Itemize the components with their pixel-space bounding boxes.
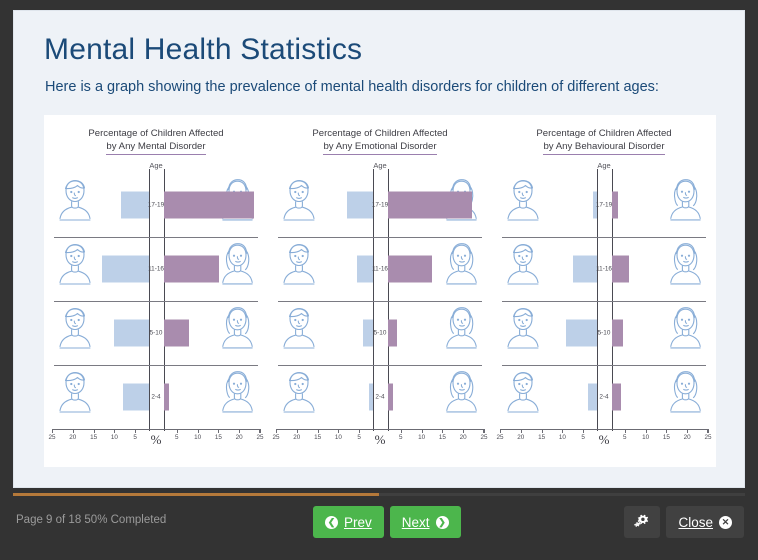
axis-tick-label: 20	[517, 434, 524, 441]
axis-tick	[583, 429, 584, 433]
row-age-label: 17-19	[372, 202, 388, 209]
chart-row: 17-19	[52, 173, 260, 237]
chevron-left-circle-icon: ❮	[325, 516, 338, 529]
axis-tick-label: 5	[399, 434, 403, 441]
axis-tick-label: 5	[133, 434, 137, 441]
x-axis: 252015105510152025%	[276, 429, 484, 451]
boy-figure-icon	[501, 177, 545, 234]
bar-male	[573, 256, 596, 283]
settings-button[interactable]	[624, 506, 660, 538]
row-age-label: 17-19	[596, 202, 612, 209]
progress-track	[13, 493, 745, 496]
row-age-label: 17-19	[148, 202, 164, 209]
axis-tick	[500, 429, 501, 433]
chart-row: 2-4	[52, 365, 260, 429]
axis-tick-label: 15	[90, 434, 97, 441]
bar-male	[121, 192, 148, 219]
axis-tick-label: 15	[215, 434, 222, 441]
x-axis: 252015105510152025%	[500, 429, 708, 451]
row-age-label: 2-4	[375, 394, 384, 401]
boy-figure-icon	[277, 369, 321, 426]
page-status: Page 9 of 18 50% Completed	[16, 514, 166, 526]
close-circle-icon: ✕	[719, 516, 732, 529]
axis-tick-label: 10	[194, 434, 201, 441]
chart-title-line2: by Any Emotional Disorder	[323, 140, 436, 155]
boy-figure-icon	[501, 369, 545, 426]
girl-figure-icon	[215, 241, 259, 298]
chart-row: 5-10	[500, 301, 708, 365]
row-age-label: 2-4	[151, 394, 160, 401]
axis-tick	[338, 429, 339, 433]
chart-rows: 17-19 11-16 5-10 2-4	[500, 173, 708, 429]
girl-figure-icon	[663, 177, 707, 234]
boy-figure-icon	[53, 369, 97, 426]
axis-tick-label: 15	[314, 434, 321, 441]
page-subtitle: Here is a graph showing the prevalence o…	[45, 79, 659, 95]
plot-area: Age 17-19 11-16 5-10 2-4	[276, 173, 484, 429]
axis-tick	[198, 429, 199, 433]
next-button-label: Next	[402, 515, 430, 530]
axis-line	[500, 429, 708, 430]
chart-row: 2-4	[500, 365, 708, 429]
girl-figure-icon	[663, 305, 707, 362]
chart-panel-3: Percentage of Children Affectedby Any Be…	[492, 115, 716, 467]
percent-axis-label: %	[599, 432, 610, 448]
girl-figure-icon	[663, 241, 707, 298]
axis-tick-label: 15	[663, 434, 670, 441]
chart-title-line2: by Any Behavioural Disorder	[543, 140, 664, 155]
axis-tick-label: 5	[623, 434, 627, 441]
chart-title-line1: Percentage of Children Affected	[268, 127, 492, 140]
row-age-label: 2-4	[599, 394, 608, 401]
axis-tick	[463, 429, 464, 433]
row-age-label: 11-16	[372, 266, 388, 273]
axis-tick	[442, 429, 443, 433]
slide-panel: Mental Health Statistics Here is a graph…	[13, 10, 745, 488]
axis-tick-label: 25	[272, 434, 279, 441]
axis-tick	[359, 429, 360, 433]
bar-female	[164, 192, 255, 219]
bar-male	[566, 320, 597, 347]
bar-female	[388, 320, 398, 347]
bar-male	[123, 384, 148, 411]
close-button-label: Close	[678, 515, 713, 530]
axis-tick	[177, 429, 178, 433]
bar-male	[114, 320, 149, 347]
axis-tick	[422, 429, 423, 433]
girl-figure-icon	[215, 369, 259, 426]
chart-rows: 17-19 11-16 5-10 2-4	[276, 173, 484, 429]
plot-area: Age 17-19 11-16 5-10 2-4	[52, 173, 260, 429]
bar-female	[388, 384, 393, 411]
axis-tick	[542, 429, 543, 433]
page-title: Mental Health Statistics	[44, 33, 362, 67]
chart-panel-2: Percentage of Children Affectedby Any Em…	[268, 115, 492, 467]
axis-tick	[94, 429, 95, 433]
axis-tick	[646, 429, 647, 433]
axis-tick	[260, 429, 261, 433]
row-age-label: 5-10	[150, 330, 163, 337]
bar-female	[612, 256, 629, 283]
axis-tick-label: 5	[357, 434, 361, 441]
axis-tick-label: 20	[69, 434, 76, 441]
bar-male	[347, 192, 372, 219]
axis-tick-label: 15	[538, 434, 545, 441]
axis-tick	[562, 429, 563, 433]
bar-female	[164, 256, 220, 283]
boy-figure-icon	[53, 305, 97, 362]
chart-title-line2: by Any Mental Disorder	[106, 140, 205, 155]
chart-title: Percentage of Children Affectedby Any Be…	[492, 127, 716, 155]
chart-title: Percentage of Children Affectedby Any Em…	[268, 127, 492, 155]
chart-panel-1: Percentage of Children Affectedby Any Me…	[44, 115, 268, 467]
girl-figure-icon	[439, 305, 483, 362]
axis-tick-label: 10	[642, 434, 649, 441]
chart-row: 17-19	[276, 173, 484, 237]
axis-tick-label: 20	[460, 434, 467, 441]
boy-figure-icon	[501, 241, 545, 298]
axis-tick-label: 25	[256, 434, 263, 441]
boy-figure-icon	[501, 305, 545, 362]
chart-row: 11-16	[500, 237, 708, 301]
prev-button[interactable]: ❮ Prev	[313, 506, 384, 538]
chart-row: 11-16	[52, 237, 260, 301]
girl-figure-icon	[439, 241, 483, 298]
axis-tick	[52, 429, 53, 433]
axis-tick	[401, 429, 402, 433]
axis-tick	[239, 429, 240, 433]
axis-tick-label: 25	[496, 434, 503, 441]
axis-tick	[318, 429, 319, 433]
next-button[interactable]: Next ❯	[390, 506, 461, 538]
bar-male	[369, 384, 372, 411]
axis-tick	[297, 429, 298, 433]
bar-female	[388, 192, 473, 219]
axis-tick-label: 10	[418, 434, 425, 441]
chevron-right-circle-icon: ❯	[436, 516, 449, 529]
age-axis-label: Age	[149, 161, 162, 170]
axis-tick	[135, 429, 136, 433]
axis-tick	[666, 429, 667, 433]
bar-female	[164, 384, 170, 411]
girl-figure-icon	[215, 305, 259, 362]
axis-tick	[218, 429, 219, 433]
plot-area: Age 17-19 11-16 5-10 2-4	[500, 173, 708, 429]
girl-figure-icon	[663, 369, 707, 426]
bar-male	[102, 256, 148, 283]
navigation-buttons: ❮ Prev Next ❯	[313, 506, 461, 538]
axis-tick-label: 20	[293, 434, 300, 441]
chart-row: 11-16	[276, 237, 484, 301]
axis-tick	[73, 429, 74, 433]
row-age-label: 5-10	[374, 330, 387, 337]
bar-male	[588, 384, 596, 411]
axis-tick-label: 25	[48, 434, 55, 441]
axis-tick	[687, 429, 688, 433]
axis-tick-label: 5	[581, 434, 585, 441]
prev-button-label: Prev	[344, 515, 372, 530]
axis-tick	[114, 429, 115, 433]
chart-title-line1: Percentage of Children Affected	[44, 127, 268, 140]
chart-row: 5-10	[52, 301, 260, 365]
chart-row: 17-19	[500, 173, 708, 237]
age-axis-label: Age	[597, 161, 610, 170]
bottom-toolbar: Page 9 of 18 50% Completed ❮ Prev Next ❯	[0, 500, 758, 560]
x-axis: 252015105510152025%	[52, 429, 260, 451]
axis-tick-label: 10	[111, 434, 118, 441]
girl-figure-icon	[439, 369, 483, 426]
boy-figure-icon	[277, 241, 321, 298]
bar-female	[612, 320, 624, 347]
axis-tick	[521, 429, 522, 433]
axis-tick	[625, 429, 626, 433]
row-age-label: 11-16	[596, 266, 612, 273]
age-axis-label: Age	[373, 161, 386, 170]
axis-tick-label: 20	[684, 434, 691, 441]
axis-tick-label: 10	[559, 434, 566, 441]
axis-tick	[484, 429, 485, 433]
chart-title: Percentage of Children Affectedby Any Me…	[44, 127, 268, 155]
bar-male	[363, 320, 373, 347]
axis-tick-label: 5	[175, 434, 179, 441]
bar-male	[357, 256, 372, 283]
bar-female	[612, 384, 622, 411]
axis-tick-label: 20	[236, 434, 243, 441]
app-root: Mental Health Statistics Here is a graph…	[0, 0, 758, 560]
chart-row: 5-10	[276, 301, 484, 365]
close-button[interactable]: Close ✕	[666, 506, 744, 538]
chart-row: 2-4	[276, 365, 484, 429]
chart-rows: 17-19 11-16 5-10 2-4	[52, 173, 260, 429]
toolbar-right-buttons: Close ✕	[624, 506, 744, 538]
boy-figure-icon	[53, 241, 97, 298]
axis-tick-label: 25	[480, 434, 487, 441]
axis-tick-label: 15	[439, 434, 446, 441]
axis-tick-label: 10	[335, 434, 342, 441]
row-age-label: 5-10	[598, 330, 611, 337]
boy-figure-icon	[277, 177, 321, 234]
axis-line	[276, 429, 484, 430]
bar-female	[388, 256, 432, 283]
row-age-label: 11-16	[148, 266, 164, 273]
percent-axis-label: %	[151, 432, 162, 448]
axis-tick-label: 25	[704, 434, 711, 441]
progress-fill	[13, 493, 379, 496]
bar-female	[612, 192, 619, 219]
boy-figure-icon	[277, 305, 321, 362]
axis-tick	[276, 429, 277, 433]
gear-icon	[634, 513, 651, 531]
boy-figure-icon	[53, 177, 97, 234]
bar-female	[164, 320, 189, 347]
figure-card: Percentage of Children Affectedby Any Me…	[44, 115, 716, 467]
axis-tick	[708, 429, 709, 433]
chart-title-line1: Percentage of Children Affected	[492, 127, 716, 140]
percent-axis-label: %	[375, 432, 386, 448]
charts-row: Percentage of Children Affectedby Any Me…	[44, 115, 716, 467]
axis-line	[52, 429, 260, 430]
